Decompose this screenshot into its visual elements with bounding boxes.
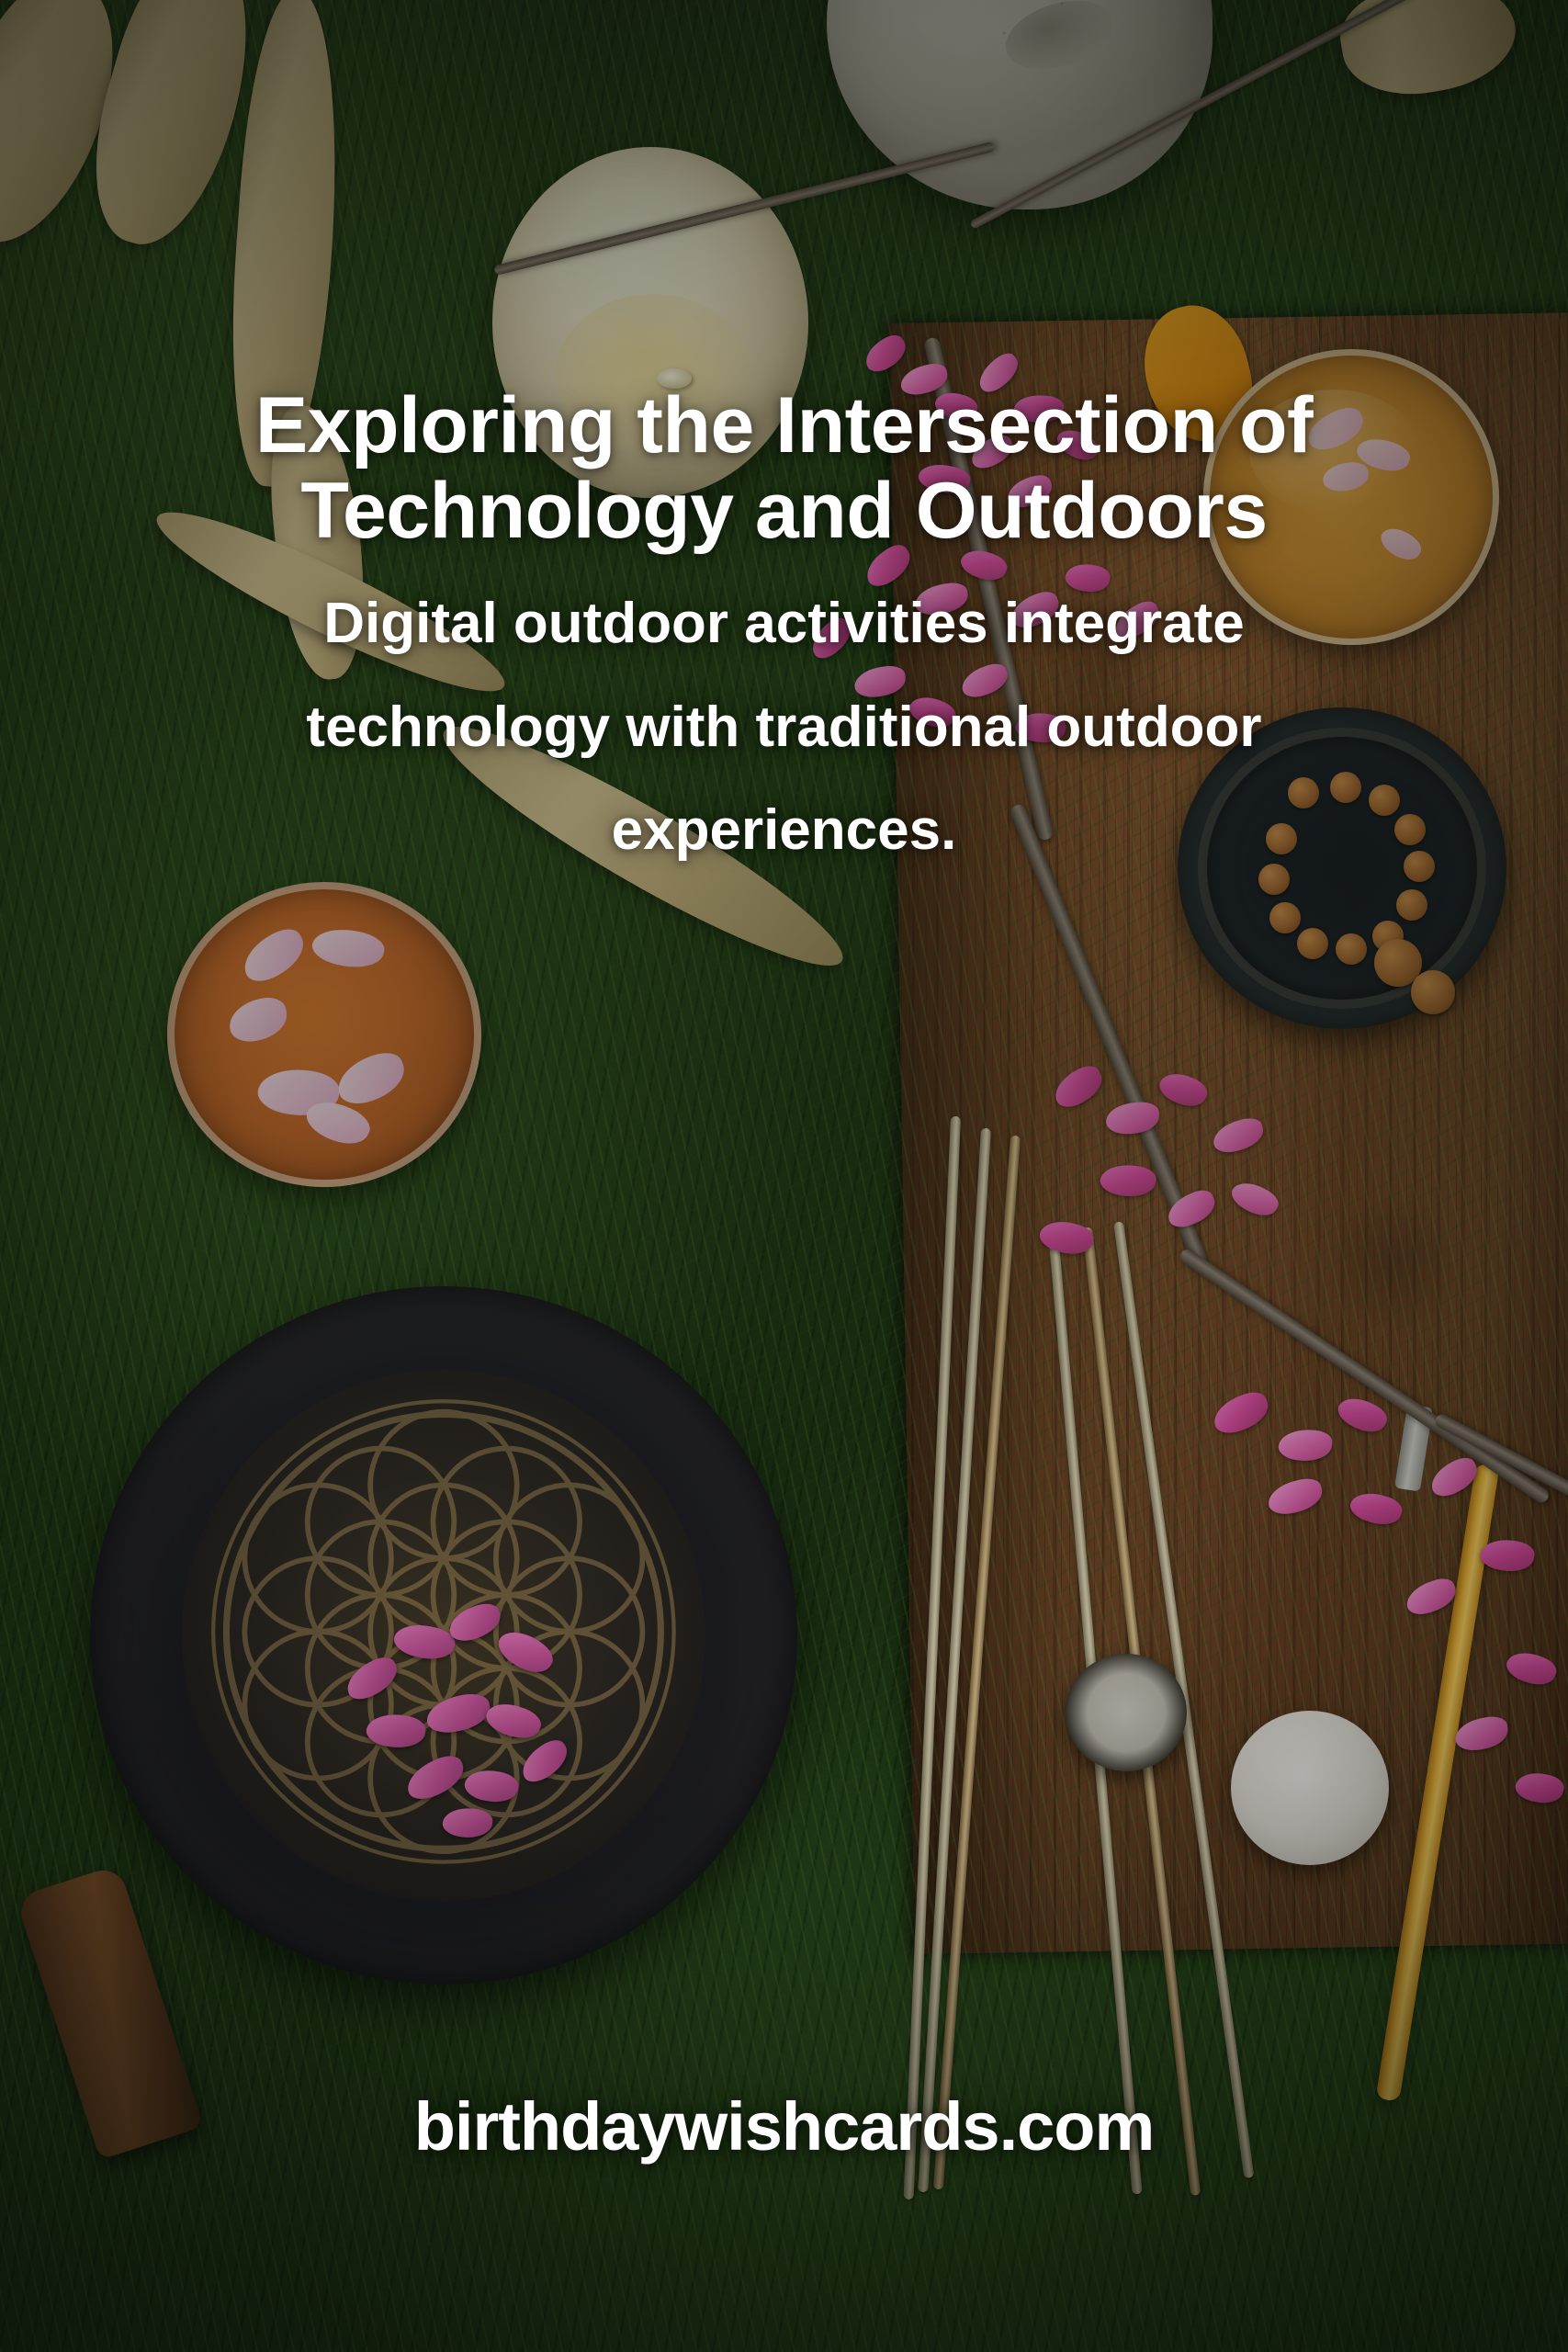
card-title: Exploring the Intersection of Technology… — [96, 383, 1473, 554]
card-subtitle: Digital outdoor activities integrate tec… — [252, 572, 1317, 883]
card-text-overlay: Exploring the Intersection of Technology… — [0, 0, 1568, 2352]
greeting-card-image: Exploring the Intersection of Technology… — [0, 0, 1568, 2352]
